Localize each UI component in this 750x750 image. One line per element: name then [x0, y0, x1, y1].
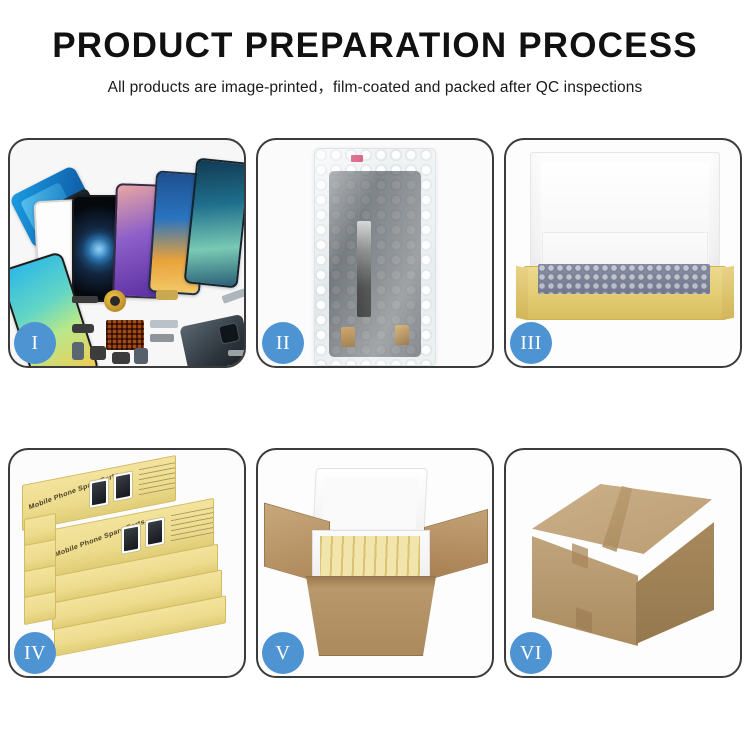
step-panel-2: II — [256, 138, 494, 368]
packed-items-icon — [538, 264, 710, 294]
step-badge-5: V — [262, 632, 304, 674]
small-part-icon — [134, 348, 148, 364]
step-panel-6: VI — [504, 448, 742, 678]
step-panel-3: III — [504, 138, 742, 368]
bubble-wrap-gloss — [315, 149, 435, 365]
coil-part-icon — [104, 290, 126, 312]
phone-back-housing-icon — [179, 314, 244, 366]
small-part-icon — [221, 288, 244, 304]
box-artwork-text-lines — [139, 461, 175, 496]
flex-cable-gold-icon — [156, 290, 178, 300]
step-badge-2: II — [262, 322, 304, 364]
flex-cable-icon — [150, 334, 174, 342]
page-subtitle: All products are image-printed，film-coat… — [0, 75, 750, 97]
carton-flap-right — [424, 509, 488, 581]
small-part-icon — [72, 324, 94, 333]
process-steps-grid: I II III — [8, 138, 742, 738]
step-badge-6: VI — [510, 632, 552, 674]
small-part-icon — [112, 352, 130, 364]
step-panel-5: V — [256, 448, 494, 678]
retail-box-stack: Mobile Phone Spare Parts Mobile Phone Sp… — [16, 468, 242, 664]
step-badge-1: I — [14, 322, 56, 364]
step-badge-4: IV — [14, 632, 56, 674]
bubble-wrap-bag — [314, 148, 436, 366]
page-header: PRODUCT PREPARATION PROCESS All products… — [0, 0, 750, 97]
small-part-icon — [72, 342, 84, 360]
packed-retail-boxes — [320, 536, 420, 578]
carton-body — [306, 576, 436, 656]
small-part-icon — [228, 350, 244, 356]
small-part-icon — [72, 296, 98, 303]
box-artwork-screen — [121, 523, 141, 555]
page-title: PRODUCT PREPARATION PROCESS — [0, 28, 750, 65]
mesh-board-part-icon — [106, 320, 144, 350]
flex-cable-icon — [150, 320, 178, 328]
small-part-icon — [90, 346, 106, 360]
box-artwork-screen — [145, 516, 165, 548]
step-badge-3: III — [510, 322, 552, 364]
spare-parts-group — [72, 290, 244, 366]
product-preparation-process-page: PRODUCT PREPARATION PROCESS All products… — [0, 0, 750, 750]
step-panel-1: I — [8, 138, 246, 368]
box-artwork-screen — [113, 470, 133, 502]
step-panel-4: Mobile Phone Spare Parts Mobile Phone Sp… — [8, 448, 246, 678]
box-artwork-screen — [89, 477, 109, 509]
box-artwork-text-lines — [171, 507, 213, 542]
